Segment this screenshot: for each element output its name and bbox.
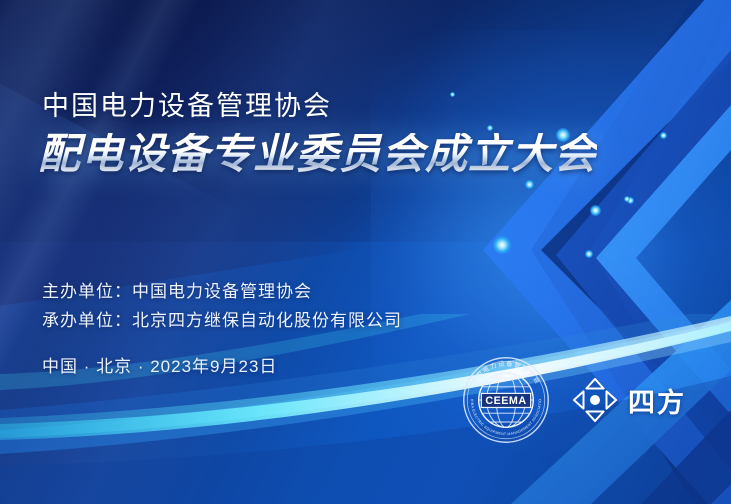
association-name: 中国电力设备管理协会 — [42, 84, 332, 123]
location-date: 中国 · 北京 · 2023年9月23日 — [42, 352, 277, 377]
organizer-line: 承办单位：北京四方继保自动化股份有限公司 — [42, 306, 402, 335]
logo-row: CEEMA 中国电力设备管理协会 CHINA ELECTRIC EQUIPMEN… — [462, 356, 686, 444]
organizer-block: 主办单位：中国电力设备管理协会 承办单位：北京四方继保自动化股份有限公司 — [42, 277, 402, 335]
svg-text:CEEMA: CEEMA — [485, 395, 526, 407]
ceema-seal-icon: CEEMA 中国电力设备管理协会 CHINA ELECTRIC EQUIPMEN… — [462, 356, 550, 444]
sponsor-logo: 四方 — [572, 377, 686, 423]
event-poster: 中国电力设备管理协会 配电设备专业委员会成立大会 主办单位：中国电力设备管理协会… — [0, 0, 731, 504]
host-line: 主办单位：中国电力设备管理协会 — [42, 277, 402, 306]
poster-content: 中国电力设备管理协会 配电设备专业委员会成立大会 主办单位：中国电力设备管理协会… — [0, 0, 731, 504]
page-title: 配电设备专业委员会成立大会 — [38, 133, 597, 175]
sponsor-logo-text: 四方 — [628, 381, 686, 420]
sifang-diamond-icon — [572, 377, 618, 423]
